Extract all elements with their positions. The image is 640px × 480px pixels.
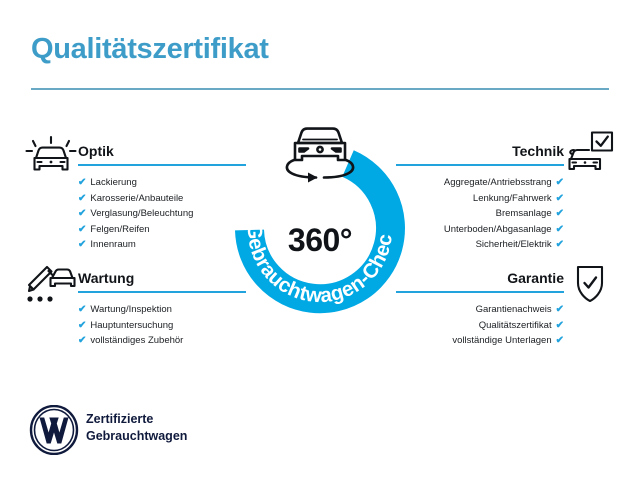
section-title-garantie: Garantie (396, 270, 564, 287)
section-garantie: Garantie Garantienachweis✔ Qualitätszert… (396, 270, 564, 349)
list-item: ✔vollständiges Zubehör (78, 333, 246, 349)
list-item: ✔Lackierung (78, 175, 246, 191)
page-title: Qualitätszertifikat (31, 33, 269, 66)
list-item-label: Bremsanlage (496, 208, 552, 219)
section-list-wartung: ✔Wartung/Inspektion ✔Hauptuntersuchung ✔… (78, 302, 246, 349)
list-item: Garantienachweis✔ (396, 302, 564, 318)
section-divider-garantie (396, 291, 564, 293)
section-wartung: Wartung ✔Wartung/Inspektion ✔Hauptunters… (78, 270, 246, 349)
check-icon: ✔ (556, 193, 564, 204)
check-icon: ✔ (556, 239, 564, 250)
volkswagen-logo (29, 405, 79, 455)
section-list-optik: ✔Lackierung ✔Karosserie/Anbauteile ✔Verg… (78, 175, 246, 253)
check-icon: ✔ (556, 304, 564, 315)
list-item: ✔Wartung/Inspektion (78, 302, 246, 318)
car-checkbox-icon (562, 129, 616, 177)
check-icon: ✔ (556, 208, 564, 219)
360-gebrauchtwagen-check-badge: Gebrauchtwagen-Check 360° (228, 112, 412, 324)
list-item-label: Hauptuntersuchung (90, 320, 173, 331)
section-list-technik: Aggregate/Antriebsstrang✔ Lenkung/Fahrwe… (396, 175, 564, 253)
qualitaetszertifikat-page: Qualitätszertifikat Optik ✔Lackierung ✔K… (0, 0, 640, 480)
car-shine-icon (24, 131, 78, 179)
list-item: ✔Karosserie/Anbauteile (78, 191, 246, 207)
list-item: Bremsanlage✔ (396, 206, 564, 222)
list-item: vollständige Unterlagen✔ (396, 333, 564, 349)
list-item-label: Karosserie/Anbauteile (90, 193, 183, 204)
list-item-label: Lackierung (90, 177, 136, 188)
list-item-label: Verglasung/Beleuchtung (90, 208, 193, 219)
list-item: Aggregate/Antriebsstrang✔ (396, 175, 564, 191)
badge-value: 360° (228, 222, 412, 259)
list-item: ✔Innenraum (78, 237, 246, 253)
list-item-label: Felgen/Reifen (90, 224, 149, 235)
check-icon: ✔ (556, 335, 564, 346)
check-icon: ✔ (556, 224, 564, 235)
list-item: ✔Felgen/Reifen (78, 222, 246, 238)
section-optik: Optik ✔Lackierung ✔Karosserie/Anbauteile… (78, 143, 246, 253)
title-divider (31, 88, 609, 90)
list-item-label: Garantienachweis (476, 304, 552, 315)
list-item-label: Qualitätszertifikat (479, 320, 552, 331)
check-icon: ✔ (78, 177, 86, 188)
list-item: ✔Hauptuntersuchung (78, 318, 246, 334)
check-icon: ✔ (556, 177, 564, 188)
section-divider-technik (396, 164, 564, 166)
list-item-label: Sicherheit/Elektrik (476, 239, 552, 250)
list-item-label: vollständige Unterlagen (452, 335, 551, 346)
car-front-rotation-icon (287, 129, 353, 183)
list-item: ✔Verglasung/Beleuchtung (78, 206, 246, 222)
car-lift-icon (24, 258, 78, 306)
section-divider-optik (78, 164, 246, 166)
section-technik: Technik Aggregate/Antriebsstrang✔ Lenkun… (396, 143, 564, 253)
list-item-label: Wartung/Inspektion (90, 304, 172, 315)
section-divider-wartung (78, 291, 246, 293)
section-title-optik: Optik (78, 143, 246, 160)
list-item-label: Innenraum (90, 239, 135, 250)
section-title-wartung: Wartung (78, 270, 246, 287)
check-icon: ✔ (78, 335, 86, 346)
list-item-label: Unterboden/Abgasanlage (444, 224, 552, 235)
list-item: Sicherheit/Elektrik✔ (396, 237, 564, 253)
check-icon: ✔ (78, 193, 86, 204)
list-item: Unterboden/Abgasanlage✔ (396, 222, 564, 238)
footer-brand-text: Zertifizierte Gebrauchtwagen (86, 411, 187, 445)
check-icon: ✔ (78, 239, 86, 250)
section-title-technik: Technik (396, 143, 564, 160)
list-item-label: vollständiges Zubehör (90, 335, 183, 346)
list-item-label: Lenkung/Fahrwerk (473, 193, 552, 204)
shield-check-icon (566, 260, 620, 308)
check-icon: ✔ (556, 320, 564, 331)
section-list-garantie: Garantienachweis✔ Qualitätszertifikat✔ v… (396, 302, 564, 349)
list-item: Qualitätszertifikat✔ (396, 318, 564, 334)
check-icon: ✔ (78, 320, 86, 331)
list-item: Lenkung/Fahrwerk✔ (396, 191, 564, 207)
footer-line-2: Gebrauchtwagen (86, 428, 187, 445)
check-icon: ✔ (78, 304, 86, 315)
footer-line-1: Zertifizierte (86, 411, 187, 428)
check-icon: ✔ (78, 224, 86, 235)
check-icon: ✔ (78, 208, 86, 219)
list-item-label: Aggregate/Antriebsstrang (444, 177, 552, 188)
